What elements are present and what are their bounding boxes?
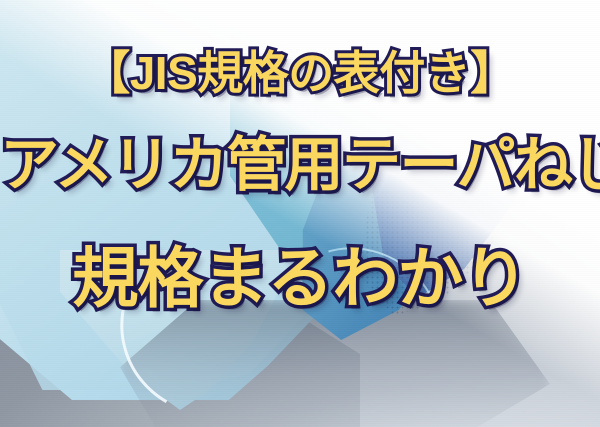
headline-line-3: 規格まるわかり <box>0 236 600 320</box>
headline-line-2: アメリカ管用テーパねじ <box>0 128 600 202</box>
banner-image: 【JIS規格の表付き】 アメリカ管用テーパねじ 規格まるわかり <box>0 0 600 427</box>
headline-block: 【JIS規格の表付き】 アメリカ管用テーパねじ 規格まるわかり <box>0 0 600 427</box>
headline-line-1: 【JIS規格の表付き】 <box>0 44 600 102</box>
